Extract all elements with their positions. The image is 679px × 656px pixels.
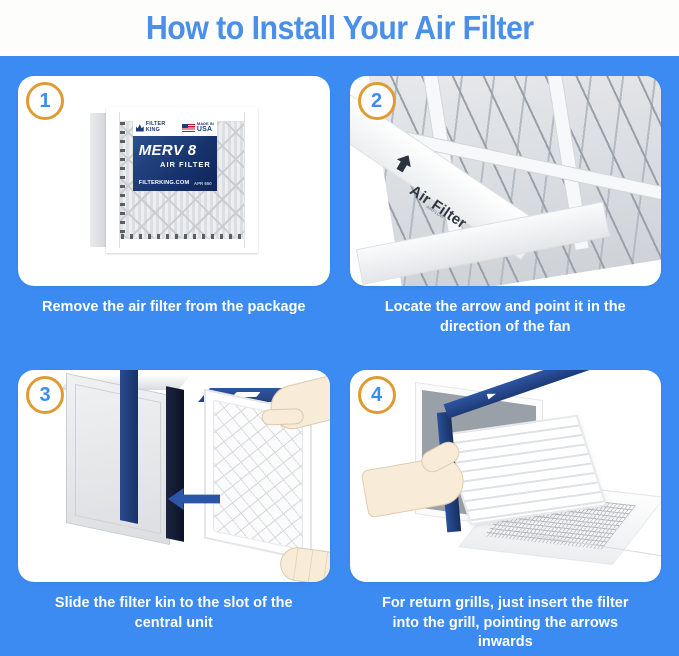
label-website: FILTERKING.COM <box>139 180 190 186</box>
filter-frame-bottom <box>111 239 253 248</box>
return-grill-illustration <box>350 370 662 582</box>
hand-lower <box>278 545 330 582</box>
step-3-caption: Slide the filter kin to the slot of the … <box>18 594 330 633</box>
caption-line: For return grills, just insert the filte… <box>356 594 656 614</box>
filter-corner-photo: Air Filter AIRFLOW <box>350 76 662 286</box>
return-grill-door <box>440 415 606 526</box>
label-apr: APR 650 <box>194 181 212 186</box>
usa-flag-icon <box>182 124 195 132</box>
origin-country: USA <box>197 126 214 133</box>
steps-grid: 1 <box>0 56 679 656</box>
filter-tab-marks-left <box>120 122 125 238</box>
brand-line-2: KING <box>146 128 166 134</box>
filter-navy-edge <box>120 370 138 524</box>
brand-name: FILTER KING <box>146 122 166 133</box>
filter-frame-right <box>245 112 253 248</box>
step-1-number-badge: 1 <box>26 82 64 120</box>
caption-line: Remove the air filter from the package <box>24 298 324 318</box>
product-filter-photo: FILTER KING MADE IN USA <box>90 107 258 255</box>
origin-text: MADE IN USA <box>197 122 214 133</box>
step-2-caption: Locate the arrow and point it in the dir… <box>350 298 662 337</box>
step-1-caption: Remove the air filter from the package <box>18 298 330 318</box>
made-in-usa: MADE IN USA <box>182 122 214 133</box>
filter-front-face: FILTER KING MADE IN USA <box>106 107 258 253</box>
filter-frame-left <box>111 112 119 248</box>
label-bottom-row: FILTERKING.COM APR 650 <box>139 180 212 186</box>
step-3-image-card: 3 <box>18 370 330 582</box>
step-3-number-badge: 3 <box>26 376 64 414</box>
merv-rating: MERV 8 <box>139 143 211 158</box>
step-card-2: 2 Air Filter AIRFLOW Locate the arrow an… <box>350 76 662 370</box>
product-label: FILTER KING MADE IN USA <box>133 119 217 191</box>
slide-into-slot-illustration <box>18 370 330 582</box>
caption-line: direction of the fan <box>356 318 656 338</box>
step-4-image-card: 4 <box>350 370 662 582</box>
crown-icon <box>136 124 144 132</box>
caption-line: central unit <box>24 614 324 634</box>
step-1-image-card: 1 <box>18 76 330 286</box>
label-main-panel: MERV 8 AIR FILTER FILTERKING.COM APR 650 <box>133 136 217 191</box>
slot-opening <box>166 386 184 542</box>
caption-line: Slide the filter kin to the slot of the <box>24 594 324 614</box>
step-card-4: 4 For return grills, just insert the fil… <box>350 370 662 656</box>
central-unit-slot <box>66 373 170 545</box>
page-title: How to Install Your Air Filter <box>146 9 534 47</box>
step-2-image-card: 2 Air Filter AIRFLOW <box>350 76 662 286</box>
step-2-number-badge: 2 <box>358 82 396 120</box>
step-card-3: 3 Slide the filter kin <box>18 370 330 656</box>
caption-line: inwards <box>356 633 656 653</box>
filter-tab-marks-bottom <box>121 234 243 239</box>
infographic-root: How to Install Your Air Filter 1 <box>0 0 679 656</box>
header-band: How to Install Your Air Filter <box>0 0 679 56</box>
hand-upper <box>266 370 330 433</box>
step-4-caption: For return grills, just insert the filte… <box>350 594 662 653</box>
brand-logo: FILTER KING <box>136 122 166 133</box>
label-subtitle: AIR FILTER <box>139 160 211 169</box>
label-top-row: FILTER KING MADE IN USA <box>133 119 217 136</box>
caption-line: Locate the arrow and point it in the <box>356 298 656 318</box>
step-card-1: 1 <box>18 76 330 370</box>
step-4-number-badge: 4 <box>358 376 396 414</box>
caption-line: into the grill, pointing the arrows <box>356 614 656 634</box>
